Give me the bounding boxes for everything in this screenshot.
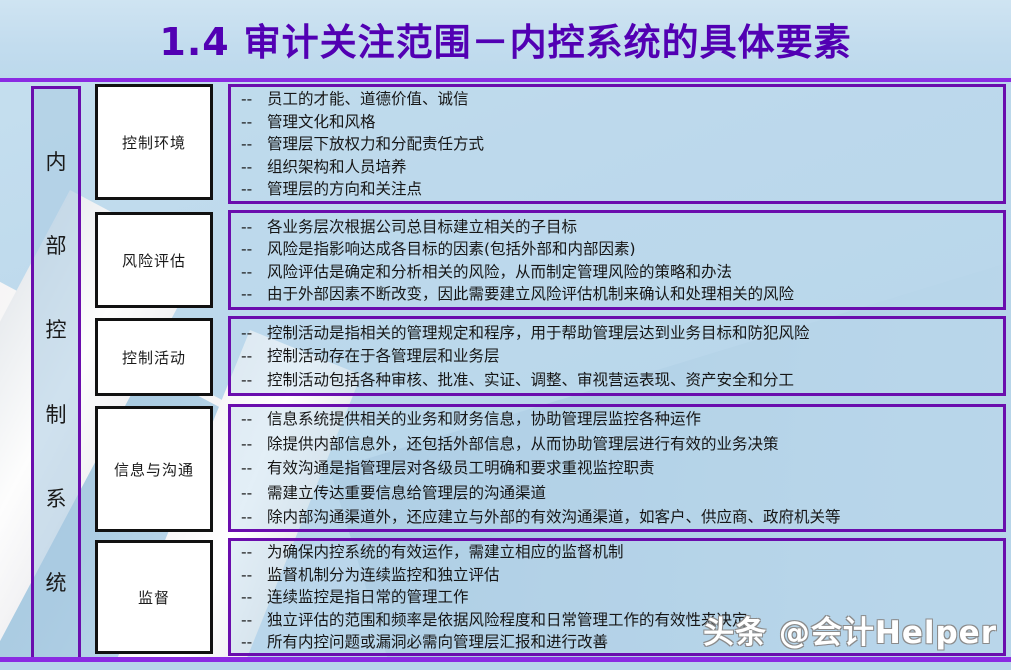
bullet-item: --控制活动包括各种审核、批准、实证、调整、审视营运表现、资产安全和分工 [241,369,993,393]
bullet-text: 除提供内部信息外，还包括外部信息，从而协助管理层进行有效的业务决策 [267,437,779,453]
bullet-text: 各业务层次根据公司总目标建立相关的子目标 [267,220,577,236]
bullet-dash-icon: -- [241,486,267,502]
category-box-information-and-communication: 信息与沟通 [95,406,213,532]
bullet-text: 需建立传达重要信息给管理层的沟通渠道 [267,486,546,502]
bullet-item: --除内部沟通渠道外，还应建立与外部的有效沟通渠道，如客户、供应商、政府机关等 [241,506,993,531]
bullet-text: 管理层下放权力和分配责任方式 [267,137,484,153]
bullet-item: --风险评估是确定和分析相关的风险，从而制定管理风险的策略和办法 [241,261,993,284]
bullet-item: --需建立传达重要信息给管理层的沟通渠道 [241,481,993,506]
bullet-text: 所有内控问题或漏洞必需向管理层汇报和进行改善 [267,635,608,651]
bullet-text: 控制活动包括各种审核、批准、实证、调整、审视营运表现、资产安全和分工 [267,373,794,389]
bullet-text: 组织架构和人员培养 [267,160,407,176]
bullet-dash-icon: -- [241,137,267,153]
bullet-text: 风险是指影响达成各目标的因素(包括外部和内部因素) [267,242,636,258]
bullet-dash-icon: -- [241,545,267,561]
description-box-risk-assessment: --各业务层次根据公司总目标建立相关的子目标 --风险是指影响达成各目标的因素(… [228,210,1006,310]
bullet-item: --监督机制分为连续监控和独立评估 [241,564,993,587]
bullet-dash-icon: -- [241,265,267,281]
bullet-item: --控制活动存在于各管理层和业务层 [241,345,993,369]
slide-canvas: 1.4 审计关注范围－内控系统的具体要素 内 部 控 制 系 统 控制环境 --… [0,0,1011,670]
bullet-dash-icon: -- [241,220,267,236]
bullet-dash-icon: -- [241,568,267,584]
bullet-dash-icon: -- [241,115,267,131]
bullet-item: --管理层的方向和关注点 [241,179,993,202]
description-box-information-and-communication: --信息系统提供相关的业务和财务信息，协助管理层监控各种运作 --除提供内部信息… [228,404,1006,532]
bullet-text: 管理文化和风格 [267,115,376,131]
bullet-text: 监督机制分为连续监控和独立评估 [267,568,500,584]
bullet-item: --连续监控是指日常的管理工作 [241,587,993,610]
bullet-item: --由于外部因素不断改变，因此需要建立风险评估机制来确认和处理相关的风险 [241,284,993,307]
bullet-text: 信息系统提供相关的业务和财务信息，协助管理层监控各种运作 [267,412,701,428]
bullet-text: 除内部沟通渠道外，还应建立与外部的有效沟通渠道，如客户、供应商、政府机关等 [267,510,841,526]
bullet-text: 为确保内控系统的有效运作，需建立相应的监督机制 [267,545,624,561]
bullet-text: 连续监控是指日常的管理工作 [267,590,469,606]
bullet-text: 控制活动是指相关的管理规定和程序，用于帮助管理层达到业务目标和防犯风险 [267,326,810,342]
bullet-text: 控制活动存在于各管理层和业务层 [267,349,500,365]
bullet-text: 有效沟通是指管理层对各级员工明确和要求重视监控职责 [267,461,655,477]
bullet-item: --员工的才能、道德价值、诚信 [241,89,993,112]
bullet-item: --组织架构和人员培养 [241,156,993,179]
bullet-item: --各业务层次根据公司总目标建立相关的子目标 [241,216,993,239]
category-box-monitoring: 监督 [95,540,213,654]
bullet-dash-icon: -- [241,326,267,342]
bullet-dash-icon: -- [241,182,267,198]
bullet-dash-icon: -- [241,160,267,176]
bullet-dash-icon: -- [241,461,267,477]
bottom-filler [0,662,1011,670]
bullet-dash-icon: -- [241,613,267,629]
bottom-rule [0,657,1011,662]
bullet-item: --风险是指影响达成各目标的因素(包括外部和内部因素) [241,239,993,262]
bullet-text: 风险评估是确定和分析相关的风险，从而制定管理风险的策略和办法 [267,265,732,281]
bullet-dash-icon: -- [241,412,267,428]
category-box-risk-assessment: 风险评估 [95,212,213,308]
category-box-control-activities: 控制活动 [95,318,213,396]
bullet-item: --信息系统提供相关的业务和财务信息，协助管理层监控各种运作 [241,408,993,433]
description-box-control-activities: --控制活动是指相关的管理规定和程序，用于帮助管理层达到业务目标和防犯风险 --… [228,316,1006,396]
bullet-dash-icon: -- [241,510,267,526]
category-label: 控制环境 [122,132,186,153]
category-label: 信息与沟通 [114,459,194,480]
bullet-item: --有效沟通是指管理层对各级员工明确和要求重视监控职责 [241,457,993,482]
category-label: 监督 [138,587,170,608]
bullet-dash-icon: -- [241,590,267,606]
bullet-item: --除提供内部信息外，还包括外部信息，从而协助管理层进行有效的业务决策 [241,432,993,457]
bullet-text: 员工的才能、道德价值、诚信 [267,92,469,108]
category-label: 控制活动 [122,347,186,368]
bullet-item: --管理文化和风格 [241,111,993,134]
description-box-control-environment: --员工的才能、道德价值、诚信 --管理文化和风格 --管理层下放权力和分配责任… [228,84,1006,204]
bullet-dash-icon: -- [241,242,267,258]
bullet-item: --为确保内控系统的有效运作，需建立相应的监督机制 [241,542,993,565]
bullet-dash-icon: -- [241,287,267,303]
bullet-dash-icon: -- [241,349,267,365]
category-box-control-environment: 控制环境 [95,84,213,200]
watermark: 头条 @会计Helper [703,607,997,652]
bullet-dash-icon: -- [241,92,267,108]
bullet-text: 由于外部因素不断改变，因此需要建立风险评估机制来确认和处理相关的风险 [267,287,794,303]
bullet-item: --控制活动是指相关的管理规定和程序，用于帮助管理层达到业务目标和防犯风险 [241,322,993,346]
category-label: 风险评估 [122,250,186,271]
bullet-text: 独立评估的范围和频率是依据风险程度和日常管理工作的有效性来决定 [267,613,748,629]
bullet-text: 管理层的方向和关注点 [267,182,422,198]
content-rows: 控制环境 --员工的才能、道德价值、诚信 --管理文化和风格 --管理层下放权力… [0,0,1011,670]
bullet-dash-icon: -- [241,635,267,651]
bullet-dash-icon: -- [241,437,267,453]
bullet-item: --管理层下放权力和分配责任方式 [241,134,993,157]
bullet-dash-icon: -- [241,373,267,389]
